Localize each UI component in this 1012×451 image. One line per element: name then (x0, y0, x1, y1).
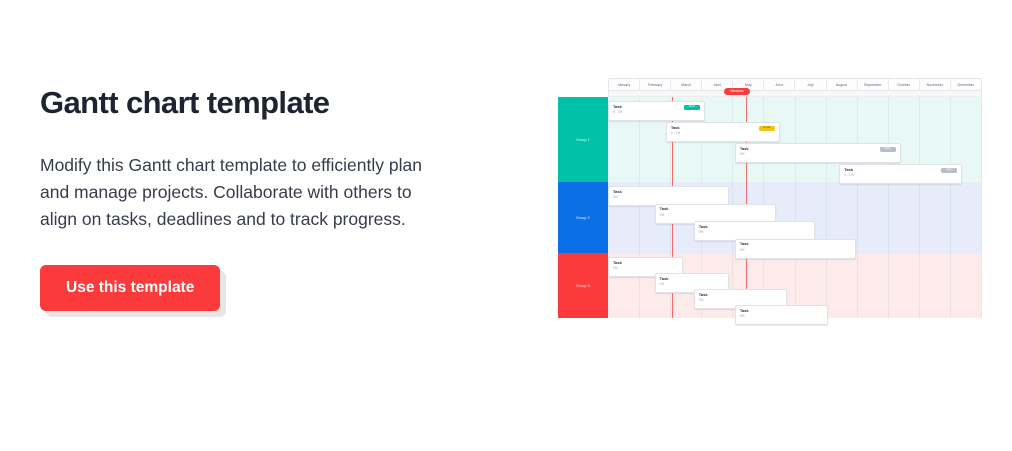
task-progress: 0 - 1% (613, 111, 700, 114)
status-badge[interactable]: Done (684, 105, 700, 110)
gridline (795, 97, 796, 182)
task-bar[interactable]: Task0%Open (735, 143, 901, 163)
month-header-june[interactable]: June (764, 79, 795, 90)
gantt-body[interactable]: Group 1Task0 - 1%DoneTask0 - 1%At riskTa… (558, 97, 982, 318)
month-header-december[interactable]: December (951, 79, 981, 90)
band-label-1[interactable]: Group 1 (558, 97, 608, 182)
month-header-february[interactable]: February (640, 79, 671, 90)
page-title: Gantt chart template (40, 84, 470, 122)
task-title: Task (740, 147, 896, 151)
task-title: Task (613, 190, 724, 194)
task-progress: 0% (740, 153, 896, 156)
status-badge[interactable]: Open (941, 168, 957, 173)
task-bar[interactable]: Task0% (735, 305, 828, 325)
gantt-template-promo-page: { "promo": { "title": "Gantt chart templ… (0, 0, 1012, 451)
task-title: Task (699, 225, 810, 229)
month-header-october[interactable]: October (889, 79, 920, 90)
promo-description: Modify this Gantt chart template to effi… (40, 152, 440, 233)
gantt-band-3: Group 3Task0%Task0%Task0%Task0% (558, 253, 982, 318)
cta-wrapper: Use this template (40, 265, 220, 311)
promo-block: Gantt chart template Modify this Gantt c… (40, 84, 470, 311)
gridline (950, 182, 951, 253)
task-bar[interactable]: Task0 - 1%Done (608, 101, 705, 121)
band-track-1[interactable]: Task0 - 1%DoneTask0 - 1%At riskTask0%Ope… (608, 97, 982, 182)
status-badge[interactable]: At risk (759, 126, 775, 131)
month-header-september[interactable]: September (858, 79, 889, 90)
status-badge[interactable]: Open (880, 147, 896, 152)
month-header-january[interactable]: January (609, 79, 640, 90)
gantt-month-header: JanuaryFebruaryMarchAprilMayJuneJulyAugu… (608, 78, 982, 91)
task-bar[interactable]: Task0 - 1%Open (839, 164, 962, 184)
month-header-august[interactable]: August (827, 79, 858, 90)
task-progress: 0% (699, 299, 782, 302)
milestone-badge[interactable]: Milestone (724, 88, 750, 95)
task-progress: 0% (660, 214, 771, 217)
gridline (888, 253, 889, 318)
task-progress: 0% (613, 267, 678, 270)
task-progress: 0% (699, 231, 810, 234)
task-title: Task (699, 293, 782, 297)
task-title: Task (660, 207, 771, 211)
task-progress: 0 - 1% (844, 174, 957, 177)
gridline (950, 253, 951, 318)
month-header-november[interactable]: November (920, 79, 951, 90)
month-header-march[interactable]: March (671, 79, 702, 90)
gridline (826, 97, 827, 182)
gridline (857, 253, 858, 318)
task-progress: 0 - 1% (671, 132, 775, 135)
task-title: Task (613, 261, 678, 265)
gantt-band-2: Group 2Task0%Task0%Task0%Task0% (558, 182, 982, 253)
month-header-july[interactable]: July (795, 79, 826, 90)
gantt-band-1: Group 1Task0 - 1%DoneTask0 - 1%At riskTa… (558, 97, 982, 182)
task-title: Task (660, 277, 725, 281)
gridline (919, 253, 920, 318)
gantt-chart-preview[interactable]: JanuaryFebruaryMarchAprilMayJuneJulyAugu… (558, 78, 982, 318)
gridline (888, 182, 889, 253)
band-track-2[interactable]: Task0%Task0%Task0%Task0% (608, 182, 982, 253)
use-this-template-button[interactable]: Use this template (40, 265, 220, 311)
task-bar[interactable]: Task0 - 1%At risk (666, 122, 780, 142)
task-progress: 0% (740, 249, 851, 252)
task-progress: 0% (660, 283, 725, 286)
gridline (857, 182, 858, 253)
task-title: Task (740, 242, 851, 246)
gridline (919, 182, 920, 253)
task-progress: 0% (613, 196, 724, 199)
band-track-3[interactable]: Task0%Task0%Task0%Task0% (608, 253, 982, 318)
task-bar[interactable]: Task0% (735, 239, 856, 259)
task-title: Task (740, 309, 823, 313)
task-progress: 0% (740, 315, 823, 318)
band-label-3[interactable]: Group 3 (558, 253, 608, 318)
band-label-2[interactable]: Group 2 (558, 182, 608, 253)
